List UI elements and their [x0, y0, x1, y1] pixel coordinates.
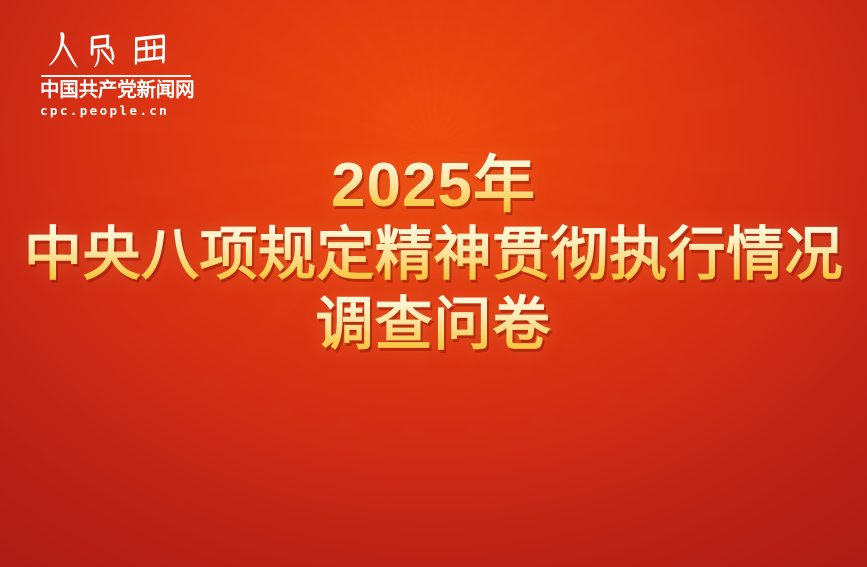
title-line-sub: 调查问卷 [0, 290, 867, 360]
poster-title: 2025年 中央八项规定精神贯彻执行情况 调查问卷 [0, 152, 867, 360]
logo-url: cpc.people.cn [40, 103, 192, 118]
title-line-year: 2025年 [0, 152, 867, 220]
site-logo[interactable]: 中国共产党新闻网 cpc.people.cn [40, 28, 192, 118]
people-daily-calligraphy-logo-icon [40, 28, 192, 72]
poster-canvas: 中国共产党新闻网 cpc.people.cn 2025年 中央八项规定精神贯彻执… [0, 0, 867, 567]
logo-site-name: 中国共产党新闻网 [40, 80, 192, 100]
logo-divider [41, 75, 191, 77]
title-line-main: 中央八项规定精神贯彻执行情况 [0, 220, 867, 290]
